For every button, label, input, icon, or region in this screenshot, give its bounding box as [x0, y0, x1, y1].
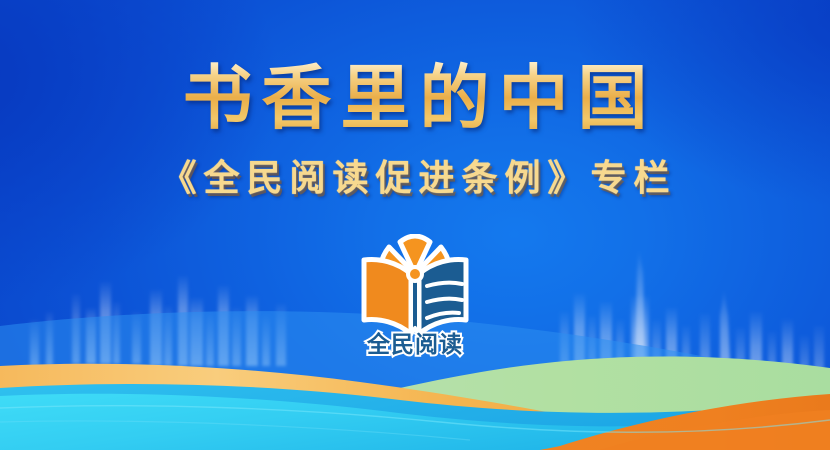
sun-center-icon [408, 267, 422, 281]
book-left-page [364, 260, 411, 334]
logo-outline [364, 236, 466, 334]
page-title: 书香里的中国 [0, 0, 830, 140]
page-subtitle: 《全民阅读促进条例》专栏 [0, 140, 830, 200]
open-book-icon [355, 234, 475, 339]
national-reading-logo: 全民阅读 [355, 234, 475, 364]
reading-campaign-banner: 书香里的中国 《全民阅读促进条例》专栏 [0, 0, 830, 450]
book-right-page [419, 260, 466, 334]
logo-caption-text: 全民阅读 [367, 332, 463, 358]
logo-caption: 全民阅读 [355, 332, 475, 358]
title-block: 书香里的中国 《全民阅读促进条例》专栏 [0, 0, 830, 200]
